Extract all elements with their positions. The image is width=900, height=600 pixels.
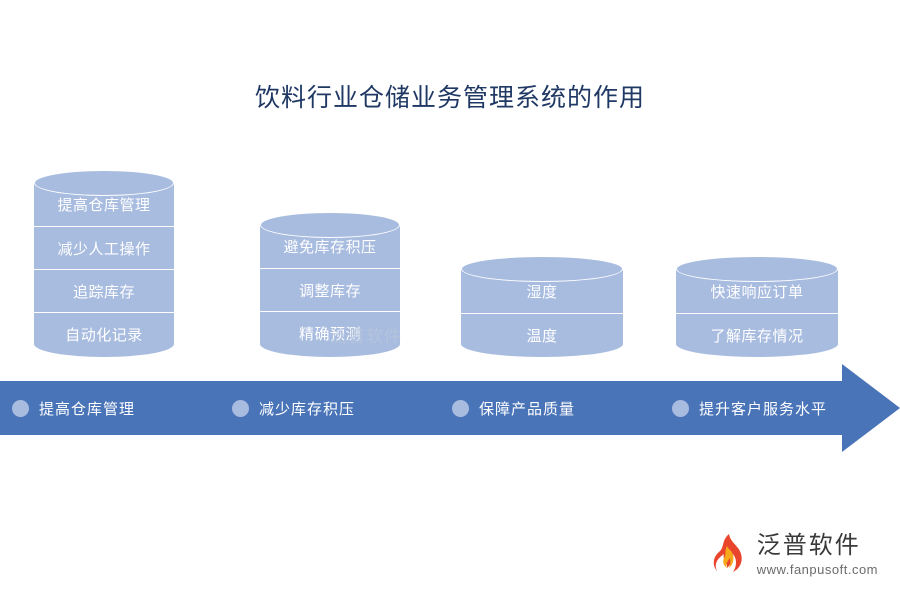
banner-item-label: 提升客户服务水平 <box>699 398 827 419</box>
arrow-banner-items: 提高仓库管理 减少库存积压 保障产品质量 提升客户服务水平 <box>0 381 880 435</box>
banner-item-label: 保障产品质量 <box>479 398 575 419</box>
cylinder-1: 提高仓库管理 减少人工操作 追踪库存 自动化记录 <box>34 170 174 370</box>
cylinder-3-row: 温度 <box>461 313 623 357</box>
cylinder-2-row: 调整库存 <box>260 268 400 311</box>
cylinder-3: 湿度 温度 <box>461 256 623 370</box>
cylinder-2-row: 避免库存积压 <box>260 225 400 268</box>
flame-logo-icon <box>703 532 749 578</box>
cylinder-4-row: 了解库存情况 <box>676 313 838 357</box>
banner-item-label: 提高仓库管理 <box>39 398 135 419</box>
cylinder-2-rows: 避免库存积压 调整库存 精确预测 <box>260 225 400 354</box>
banner-item-4[interactable]: 提升客户服务水平 <box>660 398 880 419</box>
cylinder-1-row: 自动化记录 <box>34 312 174 355</box>
cylinder-2-row: 精确预测 <box>260 311 400 354</box>
cylinder-4-row: 快速响应订单 <box>676 269 838 313</box>
bullet-dot-icon <box>232 400 249 417</box>
cylinder-4-rows: 快速响应订单 了解库存情况 <box>676 269 838 357</box>
banner-item-3[interactable]: 保障产品质量 <box>440 398 660 419</box>
brand-url: www.fanpusoft.com <box>757 562 878 577</box>
page-title: 饮料行业仓储业务管理系统的作用 <box>0 78 900 114</box>
cylinder-3-row: 湿度 <box>461 269 623 313</box>
cylinder-4: 快速响应订单 了解库存情况 <box>676 256 838 370</box>
bullet-dot-icon <box>672 400 689 417</box>
arrow-banner: 提高仓库管理 减少库存积压 保障产品质量 提升客户服务水平 <box>0 381 900 469</box>
banner-item-label: 减少库存积压 <box>259 398 355 419</box>
diagram-canvas: 饮料行业仓储业务管理系统的作用 提高仓库管理 减少人工操作 追踪库存 自动化记录… <box>0 0 900 600</box>
cylinder-1-row: 追踪库存 <box>34 269 174 312</box>
bullet-dot-icon <box>452 400 469 417</box>
bullet-dot-icon <box>12 400 29 417</box>
banner-item-2[interactable]: 减少库存积压 <box>220 398 440 419</box>
cylinder-1-rows: 提高仓库管理 减少人工操作 追踪库存 自动化记录 <box>34 183 174 355</box>
brand-logo: 泛普软件 www.fanpusoft.com <box>703 532 878 578</box>
cylinder-2: 避免库存积压 调整库存 精确预测 <box>260 212 400 370</box>
banner-item-1[interactable]: 提高仓库管理 <box>0 398 220 419</box>
brand-text: 泛普软件 www.fanpusoft.com <box>757 533 878 576</box>
cylinder-1-row: 减少人工操作 <box>34 226 174 269</box>
cylinder-3-rows: 湿度 温度 <box>461 269 623 357</box>
brand-name: 泛普软件 <box>757 533 878 559</box>
cylinder-1-row: 提高仓库管理 <box>34 183 174 226</box>
